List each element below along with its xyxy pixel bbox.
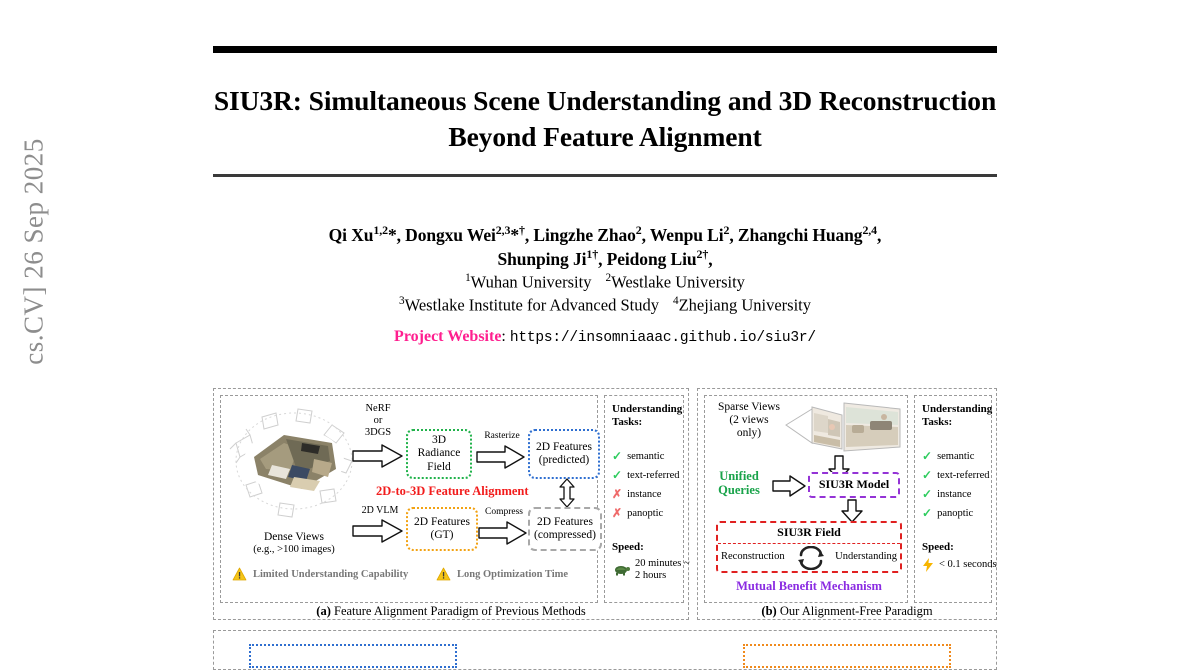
gt-line2: (GT) bbox=[414, 529, 470, 542]
compress-label: Compress bbox=[478, 507, 530, 518]
panel-a-caption-text: Feature Alignment Paradigm of Previous M… bbox=[331, 604, 586, 618]
arrow-down-icon bbox=[841, 499, 863, 523]
sparse-views-line2: (2 views bbox=[706, 414, 792, 427]
arrow-right-icon bbox=[352, 519, 404, 543]
nerf-label: NeRF bbox=[350, 403, 406, 415]
stats-title-line1: Understanding bbox=[922, 403, 1010, 416]
check-icon: ✓ bbox=[612, 469, 622, 481]
stats-previous-methods: Understanding Tasks: ✓ semantic ✓ text-r… bbox=[612, 403, 700, 583]
project-website-link[interactable]: https://insomniaaac.github.io/siu3r/ bbox=[510, 330, 816, 346]
mutual-cycle-icon bbox=[796, 546, 826, 570]
task-label: panoptic bbox=[937, 508, 973, 519]
page-title: SIU3R: Simultaneous Scene Understanding … bbox=[213, 83, 997, 156]
arxiv-stamp: cs.CV] 26 Sep 2025 bbox=[19, 42, 50, 462]
task-panoptic: ✓ panoptic bbox=[922, 507, 1010, 519]
arrow-right-icon bbox=[772, 475, 806, 497]
project-website-line: Project Website: https://insomniaaac.git… bbox=[213, 328, 997, 346]
task-semantic: ✓ semantic bbox=[922, 450, 1010, 462]
radiance-line1: 3D bbox=[418, 434, 461, 447]
sparse-views-label: Sparse Views (2 views only) bbox=[706, 401, 792, 440]
lightning-icon bbox=[922, 558, 934, 572]
warning-1-label: Limited Understanding Capability bbox=[253, 569, 408, 580]
mutual-benefit-label: Mutual Benefit Mechanism bbox=[716, 579, 902, 594]
unified-queries-label: Unified Queries bbox=[706, 469, 772, 498]
title-rule-bottom bbox=[213, 174, 997, 177]
compressed-line1: 2D Features bbox=[534, 516, 596, 529]
sparse-views-line1: Sparse Views bbox=[706, 401, 792, 414]
panel-b-caption: (b) Our Alignment-Free Paradigm bbox=[698, 605, 996, 619]
speed-line1: < 0.1 seconds bbox=[939, 559, 997, 571]
2d-vlm-label: 2D VLM bbox=[352, 505, 408, 516]
next-figure-strip bbox=[213, 630, 997, 648]
3dgs-label: 3DGS bbox=[350, 427, 406, 439]
arrow-right-icon bbox=[478, 521, 528, 545]
author-line-1: Qi Xu1,2*, Dongxu Wei2,3*†, Lingzhe Zhao… bbox=[213, 223, 997, 247]
speed-title: Speed: bbox=[922, 541, 1010, 553]
stats-title-line2: Tasks: bbox=[922, 416, 1010, 429]
affiliation-4: Zhejiang University bbox=[679, 296, 811, 315]
stats-title-line2: Tasks: bbox=[612, 416, 700, 429]
sparse-views-scene-icon bbox=[784, 395, 902, 457]
understanding-label: Understanding bbox=[835, 551, 897, 563]
arrow-right-icon bbox=[476, 445, 526, 469]
task-semantic: ✓ semantic bbox=[612, 450, 700, 462]
arrow-right-icon bbox=[352, 443, 404, 469]
box-2d-features-predicted: 2D Features (predicted) bbox=[528, 429, 600, 479]
dense-views-scene-icon bbox=[228, 399, 360, 527]
feature-alignment-label: 2D-to-3D Feature Alignment bbox=[376, 484, 529, 499]
turtle-icon bbox=[612, 564, 630, 576]
warning-2-label: Long Optimization Time bbox=[457, 569, 568, 580]
dense-views-label-line1: Dense Views bbox=[220, 531, 368, 544]
sparse-views-line3: only) bbox=[706, 427, 792, 440]
stats-title-line1: Understanding bbox=[612, 403, 700, 416]
box-2d-features-gt: 2D Features (GT) bbox=[406, 507, 478, 551]
box-3d-radiance-field: 3D Radiance Field bbox=[406, 429, 472, 479]
predicted-line2: (predicted) bbox=[536, 454, 592, 467]
title-rule-top bbox=[213, 46, 997, 53]
box-siu3r-model: SIU3R Model bbox=[808, 472, 900, 498]
check-icon: ✓ bbox=[612, 450, 622, 462]
warning-limited-understanding: Limited Understanding Capability bbox=[232, 567, 408, 581]
panel-a: Dense Views (e.g., >100 images) NeRF or … bbox=[213, 388, 689, 620]
affiliation-2: Westlake University bbox=[611, 273, 745, 292]
reconstruction-label: Reconstruction bbox=[721, 551, 785, 563]
panel-a-caption: (a) Feature Alignment Paradigm of Previo… bbox=[214, 605, 688, 619]
affiliation-line-2: 3Westlake Institute for Advanced Study4Z… bbox=[213, 294, 997, 317]
check-icon: ✓ bbox=[922, 450, 932, 462]
task-text-referred: ✓ text-referred bbox=[922, 469, 1010, 481]
task-panoptic: ✗ panoptic bbox=[612, 507, 700, 519]
panel-b-caption-text: Our Alignment-Free Paradigm bbox=[777, 604, 933, 618]
cross-icon: ✗ bbox=[612, 488, 622, 500]
nerf-3dgs-label: NeRF or 3DGS bbox=[350, 403, 406, 438]
gt-line1: 2D Features bbox=[414, 516, 470, 529]
panel-a-caption-tag: (a) bbox=[316, 604, 331, 618]
task-text-referred: ✓ text-referred bbox=[612, 469, 700, 481]
box-2d-features-compressed: 2D Features (compressed) bbox=[528, 507, 602, 551]
affiliation-line-1: 1Wuhan University2Westlake University bbox=[213, 271, 997, 294]
check-icon: ✓ bbox=[922, 488, 932, 500]
stats-siu3r: Understanding Tasks: ✓ semantic ✓ text-r… bbox=[922, 403, 1010, 572]
affiliation-3: Westlake Institute for Advanced Study bbox=[405, 296, 659, 315]
speed-line2: 2 hours bbox=[635, 570, 690, 582]
radiance-line3: Field bbox=[418, 461, 461, 474]
authors-block: Qi Xu1,2*, Dongxu Wei2,3*†, Lingzhe Zhao… bbox=[213, 223, 997, 346]
speed-value-previous: 20 minutes ~ 2 hours bbox=[612, 558, 700, 582]
task-label: instance bbox=[627, 489, 661, 500]
author-line-2: Shunping Ji1†, Peidong Liu2†, bbox=[213, 247, 997, 271]
compressed-line2: (compressed) bbox=[534, 529, 596, 542]
project-colon: : bbox=[501, 328, 505, 345]
task-label: text-referred bbox=[937, 470, 989, 481]
affiliation-1: Wuhan University bbox=[471, 273, 592, 292]
project-website-label: Project Website bbox=[394, 328, 501, 345]
predicted-line1: 2D Features bbox=[536, 441, 592, 454]
speed-value-siu3r: < 0.1 seconds bbox=[922, 558, 1010, 572]
or-label: or bbox=[350, 415, 406, 427]
task-label: semantic bbox=[627, 451, 664, 462]
task-label: panoptic bbox=[627, 508, 663, 519]
radiance-line2: Radiance bbox=[418, 447, 461, 460]
task-label: instance bbox=[937, 489, 971, 500]
warning-triangle-icon bbox=[436, 567, 451, 581]
check-icon: ✓ bbox=[922, 469, 932, 481]
speed-line1: 20 minutes ~ bbox=[635, 558, 690, 570]
siu3r-field-title: SIU3R Field bbox=[718, 523, 900, 540]
task-instance: ✓ instance bbox=[922, 488, 1010, 500]
double-arrow-vertical-icon bbox=[557, 478, 577, 508]
panel-b-caption-tag: (b) bbox=[761, 604, 776, 618]
task-label: semantic bbox=[937, 451, 974, 462]
dense-views-label: Dense Views (e.g., >100 images) bbox=[220, 531, 368, 556]
unified-queries-line2: Queries bbox=[706, 483, 772, 497]
box-siu3r-field: SIU3R Field Reconstruction Understanding bbox=[716, 521, 902, 573]
unified-queries-line1: Unified bbox=[706, 469, 772, 483]
dense-views-label-line2: (e.g., >100 images) bbox=[220, 544, 368, 556]
check-icon: ✓ bbox=[922, 507, 932, 519]
task-label: text-referred bbox=[627, 470, 679, 481]
cross-icon: ✗ bbox=[612, 507, 622, 519]
task-instance: ✗ instance bbox=[612, 488, 700, 500]
speed-title: Speed: bbox=[612, 541, 700, 553]
panel-b: Sparse Views (2 views only) bbox=[697, 388, 997, 620]
rasterize-label: Rasterize bbox=[474, 431, 530, 442]
warning-long-optimization: Long Optimization Time bbox=[436, 567, 568, 581]
warning-triangle-icon bbox=[232, 567, 247, 581]
